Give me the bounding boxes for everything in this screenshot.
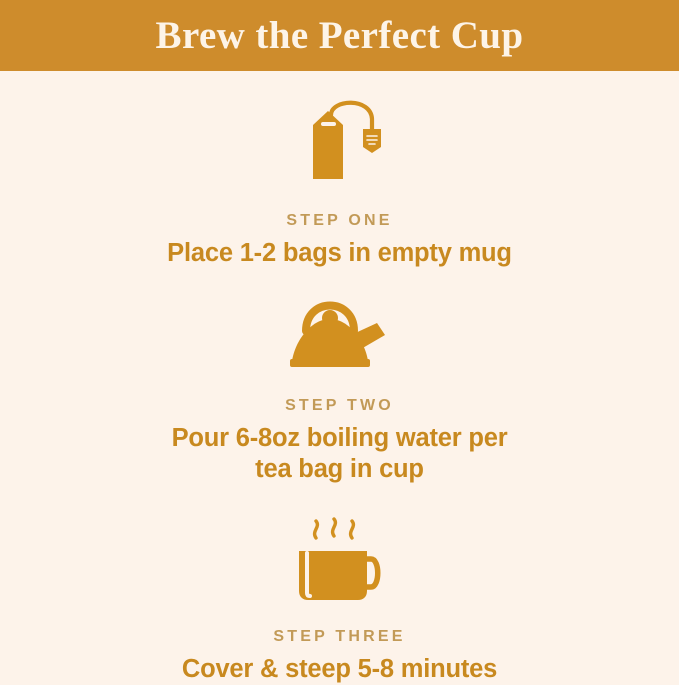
step-label-three: STEP THREE xyxy=(273,629,405,645)
step-item-two: STEP TWO Pour 6-8oz boiling water per te… xyxy=(0,269,679,485)
steaming-mug-icon xyxy=(285,515,395,605)
kettle-icon xyxy=(281,295,399,371)
page-title: Brew the Perfect Cup xyxy=(156,16,524,55)
brew-instructions-page: Brew the Perfect Cup xyxy=(0,0,679,679)
step-label-two: STEP TWO xyxy=(285,398,394,414)
step-item-three: STEP THREE Cover & steep 5-8 minutes xyxy=(0,485,679,685)
step-text-one: Place 1-2 bags in empty mug xyxy=(167,238,512,269)
tea-bag-icon xyxy=(285,93,395,185)
page-header: Brew the Perfect Cup xyxy=(0,0,679,71)
steps-list: STEP ONE Place 1-2 bags in empty mug STE… xyxy=(0,71,679,679)
step-label-one: STEP ONE xyxy=(286,213,392,229)
step-text-three: Cover & steep 5-8 minutes xyxy=(182,654,497,685)
step-item-one: STEP ONE Place 1-2 bags in empty mug xyxy=(0,71,679,269)
step-text-two: Pour 6-8oz boiling water per tea bag in … xyxy=(172,423,508,485)
